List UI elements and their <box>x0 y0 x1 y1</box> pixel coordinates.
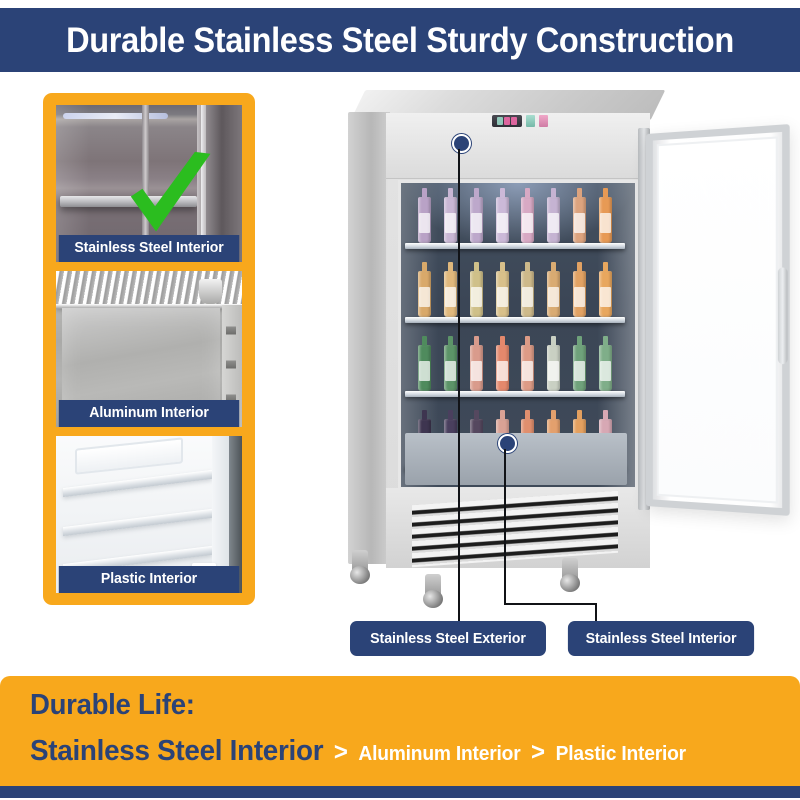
bottle <box>521 271 534 317</box>
ranking-item-1: Stainless Steel Interior <box>30 735 323 768</box>
footer-heading: Durable Life: <box>30 690 737 722</box>
bottle <box>496 345 509 391</box>
comparison-card-caption: Stainless Steel Interior <box>59 235 239 262</box>
caster-wheel <box>562 558 578 584</box>
ranking-item-2: Aluminum Interior <box>358 743 520 766</box>
display-segment <box>497 117 503 125</box>
bottle <box>470 271 483 317</box>
bottle-shelf <box>405 261 625 323</box>
comparison-card-stainless: Stainless Steel Interior <box>56 105 242 262</box>
callout-label-interior[interactable]: Stainless Steel Interior <box>568 621 754 656</box>
bottle <box>599 271 612 317</box>
plastic-shelf <box>63 509 212 536</box>
door-glass-panel <box>657 136 778 503</box>
caster-wheel <box>352 550 368 576</box>
door-handle[interactable] <box>778 267 788 364</box>
plastic-top-tray <box>75 437 183 474</box>
plastic-shelf <box>63 470 212 497</box>
comparison-panel: Stainless Steel Interior Aluminum Interi… <box>43 93 255 605</box>
header-banner: Durable Stainless Steel Sturdy Construct… <box>0 8 800 72</box>
cabinet-left-side <box>348 112 390 564</box>
cabinet-lower-panel <box>386 488 650 568</box>
comparison-card-caption: Aluminum Interior <box>59 400 239 427</box>
bottle <box>470 345 483 391</box>
bottle <box>521 197 534 243</box>
bottle <box>573 197 586 243</box>
bottle <box>547 271 560 317</box>
controller-button-right[interactable] <box>539 115 548 127</box>
bottle <box>444 197 457 243</box>
bottle <box>496 271 509 317</box>
bottle <box>418 345 431 391</box>
footer-banner: Durable Life: Stainless Steel Interior >… <box>0 676 800 786</box>
bottle <box>547 345 560 391</box>
infographic-page: Durable Stainless Steel Sturdy Construct… <box>0 0 800 800</box>
durability-ranking: Stainless Steel Interior > Aluminum Inte… <box>30 735 744 768</box>
bottle <box>573 271 586 317</box>
callout-leader-line-interior-horizontal <box>504 603 597 605</box>
bottle-shelf <box>405 187 625 249</box>
callout-leader-line-interior-vertical <box>504 449 506 605</box>
callout-label-exterior[interactable]: Stainless Steel Exterior <box>350 621 546 656</box>
interior-light-strip <box>63 113 167 119</box>
bottle <box>418 197 431 243</box>
shelf-clip <box>199 279 221 304</box>
callout-dot-interior <box>498 434 517 453</box>
controller-button-left[interactable] <box>526 115 535 127</box>
bottle <box>599 197 612 243</box>
footer-bottom-strip <box>0 786 800 798</box>
bottle <box>573 345 586 391</box>
ranking-separator: > <box>334 738 348 767</box>
cabinet-glass-window <box>398 180 638 490</box>
comparison-card-plastic: Plastic Interior <box>56 436 242 593</box>
bottle <box>444 271 457 317</box>
page-title: Durable Stainless Steel Sturdy Construct… <box>66 23 734 58</box>
callout-leader-line-interior-drop <box>595 603 597 622</box>
bottle <box>496 197 509 243</box>
display-segment <box>504 117 510 125</box>
commercial-refrigerator-photo <box>330 88 780 608</box>
bottle <box>470 197 483 243</box>
glass-door-open[interactable] <box>646 124 790 516</box>
bottle <box>521 345 534 391</box>
callout-dot-exterior <box>452 134 471 153</box>
ranking-item-3: Plastic Interior <box>556 743 686 766</box>
temperature-display <box>492 115 522 127</box>
bottle <box>418 271 431 317</box>
bottle-shelf <box>405 335 625 397</box>
digital-temperature-controller[interactable] <box>492 114 558 128</box>
caster-wheel <box>425 574 441 600</box>
bottle <box>599 345 612 391</box>
bottle <box>444 345 457 391</box>
ranking-separator: > <box>531 738 545 767</box>
check-mark-icon <box>112 146 227 243</box>
bottle <box>547 197 560 243</box>
display-segment <box>511 117 517 125</box>
comparison-card-aluminum: Aluminum Interior <box>56 271 242 428</box>
comparison-card-caption: Plastic Interior <box>59 566 239 593</box>
ventilation-louver-grille <box>412 491 618 567</box>
callout-leader-line-exterior <box>458 149 460 622</box>
